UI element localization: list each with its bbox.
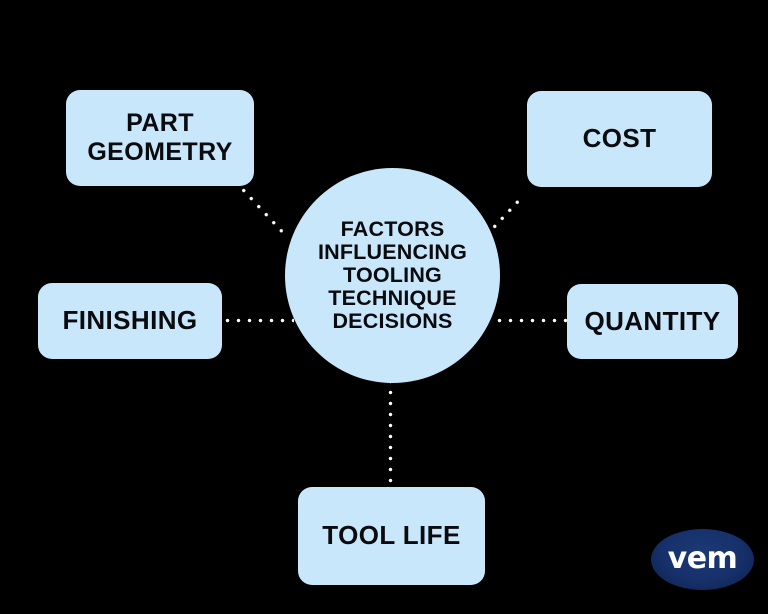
node-tool-life[interactable]: TOOL LIFE [298, 487, 485, 585]
node-quantity-label: QUANTITY [574, 307, 730, 337]
connector-finishing-to-center [222, 318, 294, 323]
connector-quantity-to-center [494, 318, 570, 323]
node-cost[interactable]: COST [527, 91, 712, 187]
logo-wordmark: vem [651, 529, 754, 590]
center-node-label: FACTORS INFLUENCING TOOLING TECHNIQUE DE… [310, 218, 475, 333]
node-part-geometry-label: PART GEOMETRY [77, 109, 242, 167]
node-quantity[interactable]: QUANTITY [567, 284, 738, 359]
vem-logo: vem [651, 529, 754, 590]
node-finishing-label: FINISHING [52, 306, 207, 336]
center-node[interactable]: FACTORS INFLUENCING TOOLING TECHNIQUE DE… [285, 168, 500, 383]
connector-part-geometry-to-center [238, 185, 288, 238]
node-finishing[interactable]: FINISHING [38, 283, 222, 359]
node-tool-life-label: TOOL LIFE [312, 521, 470, 551]
node-part-geometry[interactable]: PART GEOMETRY [66, 90, 254, 186]
diagram-canvas: FACTORS INFLUENCING TOOLING TECHNIQUE DE… [0, 0, 768, 614]
connector-tool-life-to-center [388, 376, 393, 488]
node-cost-label: COST [573, 124, 667, 154]
